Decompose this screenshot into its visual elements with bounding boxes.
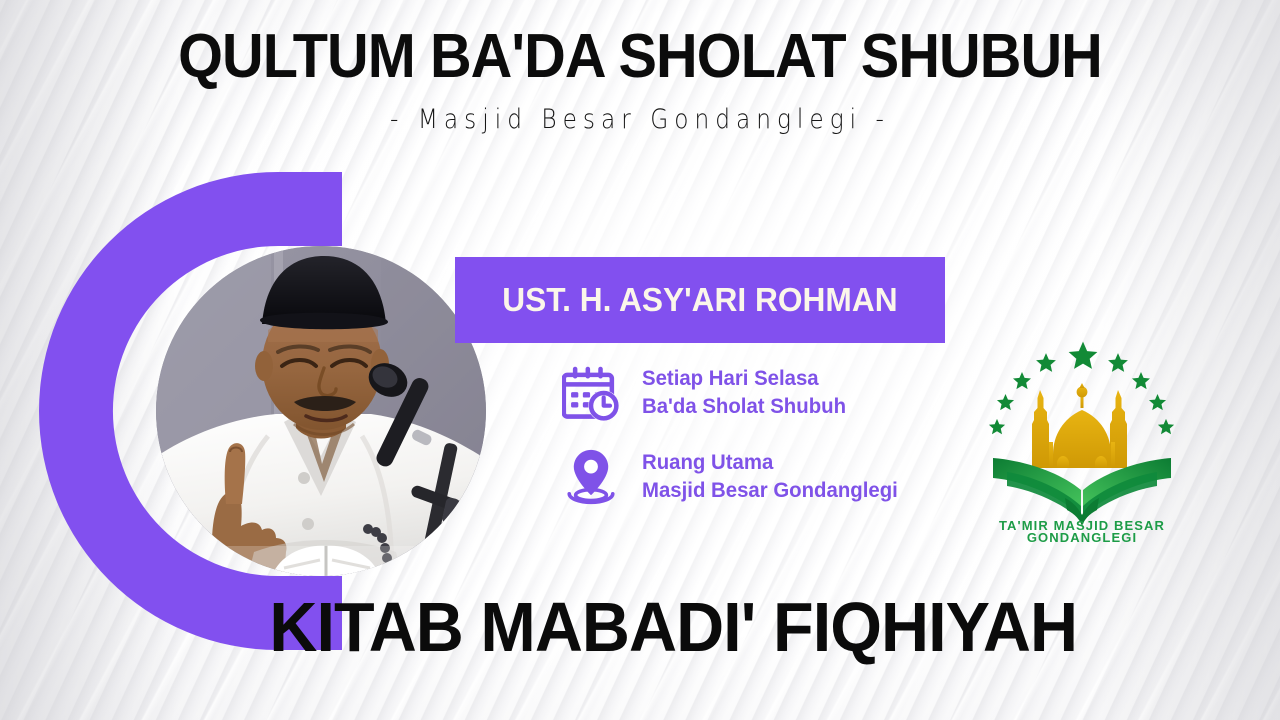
footer-block: KITAB MABADI' FIQHIYAH [0,592,1280,662]
speaker-name-banner: UST. H. ASY'ARI ROHMAN [455,257,945,343]
schedule-text: Setiap Hari Selasa Ba'da Sholat Shubuh [642,365,846,420]
location-line-2: Masjid Besar Gondanglegi [642,477,898,505]
map-pin-icon [560,446,622,508]
mosque-logo: TA'MIR MASJID BESAR GONDANGLEGI [985,338,1180,543]
schedule-line-2: Ba'da Sholat Shubuh [642,393,846,421]
book-title: KITAB MABADI' FIQHIYAH [32,592,1248,662]
speaker-photo [156,246,486,576]
location-row: Ruang Utama Masjid Besar Gondanglegi [560,446,906,508]
location-text: Ruang Utama Masjid Besar Gondanglegi [642,449,898,504]
calendar-clock-icon [560,362,622,424]
page-title: QULTUM BA'DA SHOLAT SHUBUH [45,26,1235,88]
speaker-name: UST. H. ASY'ARI ROHMAN [502,281,897,319]
location-line-1: Ruang Utama [642,449,898,477]
header-block: QULTUM BA'DA SHOLAT SHUBUH - Masjid Besa… [0,26,1280,135]
info-block: Setiap Hari Selasa Ba'da Sholat Shubuh R… [560,362,906,530]
logo-caption-line-2: GONDANGLEGI [1027,530,1137,543]
page-subtitle: - Masjid Besar Gondanglegi - [90,104,1191,135]
schedule-line-1: Setiap Hari Selasa [642,365,846,393]
poster-canvas: QULTUM BA'DA SHOLAT SHUBUH - Masjid Besa… [0,0,1280,720]
schedule-row: Setiap Hari Selasa Ba'da Sholat Shubuh [560,362,906,424]
